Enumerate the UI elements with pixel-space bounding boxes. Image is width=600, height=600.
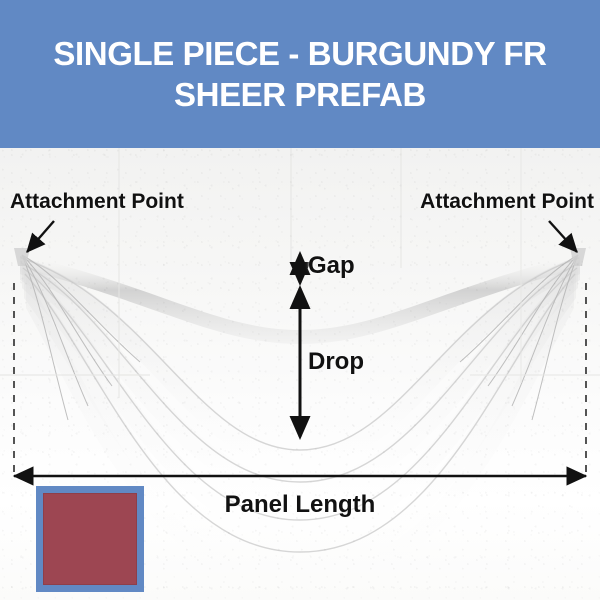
ceiling-seam	[400, 148, 402, 268]
attachment-point-right-label: Attachment Point	[420, 190, 594, 214]
swag-top-band	[20, 254, 580, 344]
header-banner: SINGLE PIECE - BURGUNDY FR SHEER PREFAB	[0, 0, 600, 148]
ceiling-seam	[118, 148, 120, 398]
drop-label: Drop	[308, 348, 364, 376]
ceiling-seam	[290, 148, 292, 278]
ceiling-seam	[520, 148, 522, 383]
attachment-point-left-label: Attachment Point	[10, 190, 184, 214]
gap-label: Gap	[308, 252, 355, 280]
color-swatch-fill	[43, 493, 137, 585]
product-diagram-page: SINGLE PIECE - BURGUNDY FR SHEER PREFAB	[0, 0, 600, 600]
ceiling-seam	[0, 374, 150, 376]
ceiling-seam	[470, 374, 600, 376]
page-title: SINGLE PIECE - BURGUNDY FR SHEER PREFAB	[53, 33, 546, 116]
color-swatch[interactable]	[36, 486, 144, 592]
